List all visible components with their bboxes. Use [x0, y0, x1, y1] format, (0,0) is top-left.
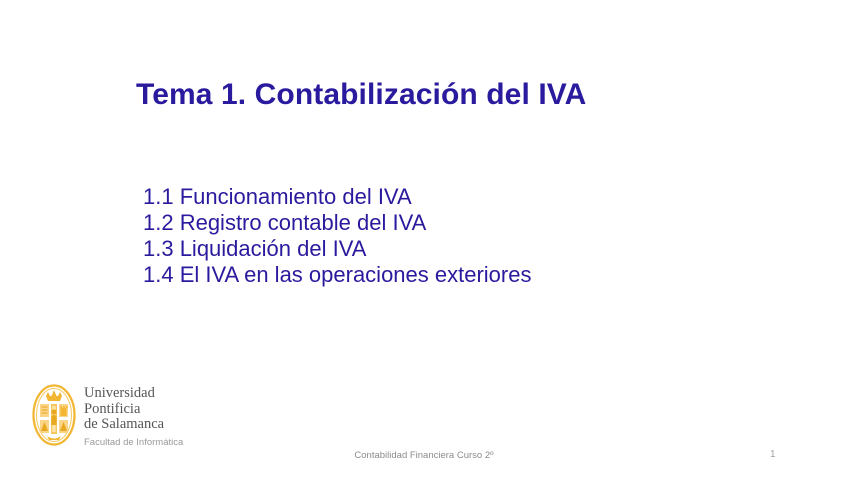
page-title: Tema 1. Contabilización del IVA	[136, 78, 586, 112]
list-item: 1.3 Liquidación del IVA	[143, 236, 763, 262]
footer-course-label: Contabilidad Financiera Curso 2º	[0, 450, 848, 461]
faculty-label: Facultad de Informática	[84, 437, 183, 449]
presentation-slide: Tema 1. Contabilización del IVA 1.1 Func…	[0, 0, 848, 477]
list-item: 1.4 El IVA en las operaciones exteriores	[143, 262, 763, 288]
list-item: 1.1 Funcionamiento del IVA	[143, 184, 763, 210]
list-item: 1.2 Registro contable del IVA	[143, 210, 763, 236]
logo-line-3: de Salamanca	[84, 417, 183, 433]
university-crest-icon	[32, 384, 76, 446]
university-wordmark: Universidad Pontificia de Salamanca Facu…	[84, 384, 183, 449]
outline-list: 1.1 Funcionamiento del IVA 1.2 Registro …	[143, 184, 763, 288]
page-number: 1	[770, 449, 776, 460]
university-logo: Universidad Pontificia de Salamanca Facu…	[32, 384, 183, 449]
logo-line-2: Pontificia	[84, 402, 183, 418]
logo-line-1: Universidad	[84, 386, 183, 402]
